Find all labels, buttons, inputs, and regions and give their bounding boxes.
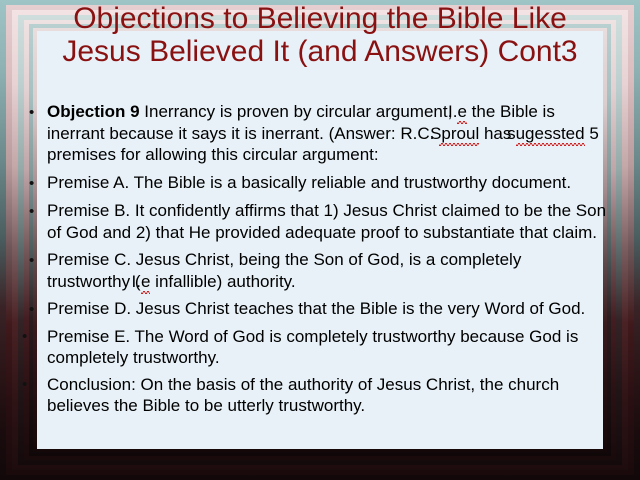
misspelled-word: I.e [141, 271, 151, 292]
premise-d-text: Premise D. Jesus Christ teaches that the… [47, 299, 585, 318]
misspelled-word: Sproul [439, 123, 479, 144]
bullet-premise-e: •Premise E. The Word of God is completel… [31, 326, 609, 368]
bullet-premise-d: •Premise D. Jesus Christ teaches that th… [31, 298, 609, 320]
slide-body: •Objection 9 Inerrancy is proven by circ… [31, 101, 609, 422]
conclusion-text: Conclusion: On the basis of the authorit… [47, 375, 559, 415]
bullet-glyph: • [38, 299, 47, 320]
bullet-premise-a: •Premise A. The Bible is a basically rel… [31, 172, 609, 194]
bullet-glyph: • [22, 374, 31, 395]
bullet-objection-9: •Objection 9 Inerrancy is proven by circ… [31, 101, 609, 165]
misspelled-word: sugessted [516, 123, 585, 144]
bullet-glyph: • [22, 326, 31, 347]
presentation-slide: Objections to Believing the Bible Like J… [0, 0, 640, 480]
slide-title: Objections to Believing the Bible Like J… [37, 2, 603, 68]
premise-e-text: Premise E. The Word of God is completely… [47, 327, 578, 367]
premise-b-text: Premise B. It confidently affirms that 1… [47, 201, 606, 242]
bullet-premise-c: •Premise C. Jesus Christ, being the Son … [31, 249, 609, 292]
bullet-conclusion: •Conclusion: On the basis of the authori… [31, 374, 609, 416]
misspelled-word: I.e [457, 101, 467, 122]
bullet-glyph: • [38, 250, 47, 271]
bullet-glyph: • [38, 102, 47, 123]
bullet-glyph: • [38, 201, 47, 222]
bullet-glyph: • [38, 173, 47, 194]
premise-c-text-b: infallible) authority. [150, 272, 295, 291]
premise-a-text: Premise A. The Bible is a basically reli… [47, 173, 571, 192]
objection-label: Objection 9 [47, 102, 140, 121]
objection-text-a: Inerrancy is proven by circular argument… [140, 102, 457, 121]
bullet-premise-b: •Premise B. It confidently affirms that … [31, 200, 609, 243]
